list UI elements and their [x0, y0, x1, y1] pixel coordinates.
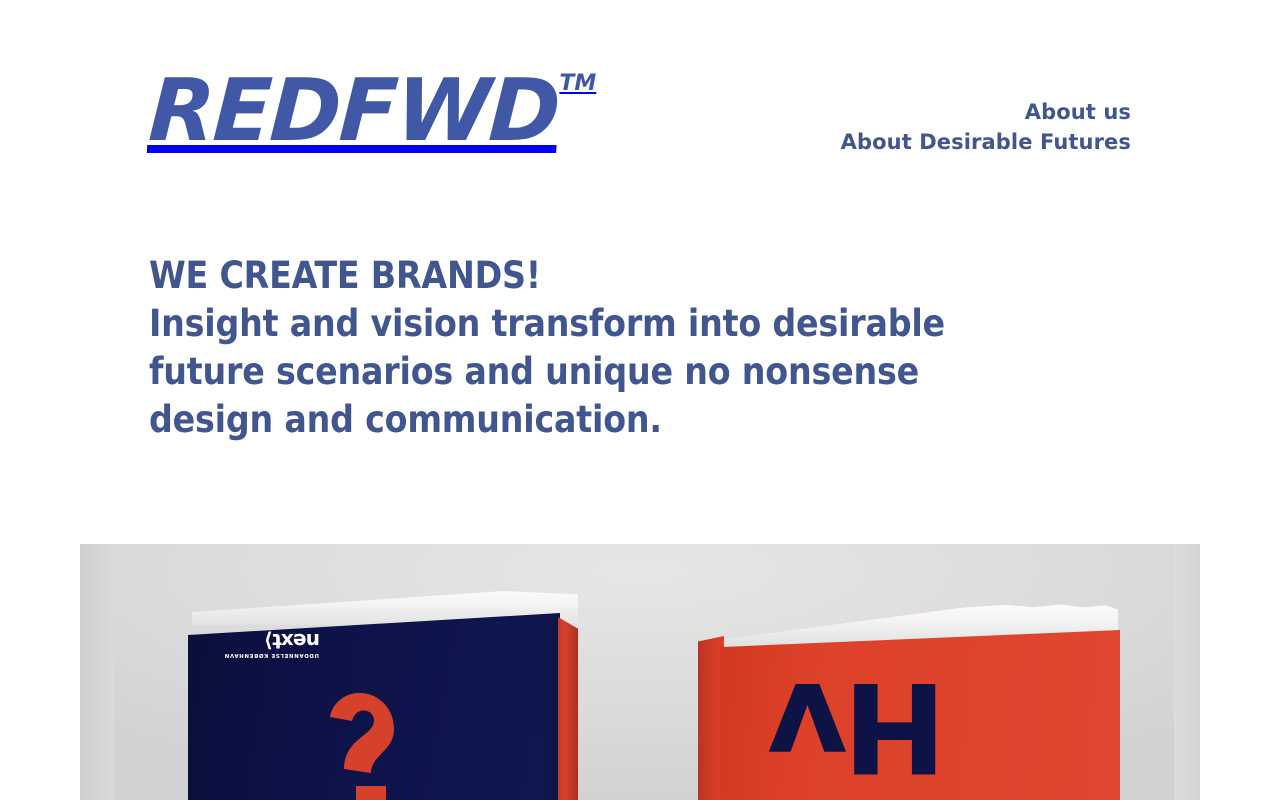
book-left-cover: UDDANNELSE KØBENHAVN next⟩ — [188, 613, 560, 800]
book-left-wordmark: next⟩ — [224, 631, 320, 651]
photo-edge-right — [1174, 544, 1200, 800]
page-root: REDFWD TM About us About Desirable Futur… — [0, 0, 1280, 800]
book-right-cover: Hv — [720, 630, 1120, 800]
nav-item-about-us[interactable]: About us — [1025, 97, 1131, 127]
book-left-logo-block: UDDANNELSE KØBENHAVN next⟩ — [224, 631, 320, 658]
logo-trademark-icon: TM — [559, 73, 596, 95]
book-mockup-left: UDDANNELSE KØBENHAVN next⟩ NEXT Uddannel… — [188, 591, 578, 800]
book-right-cover-title: Hv — [772, 664, 947, 788]
photo-edge-left — [80, 544, 114, 800]
nav-item-about-desirable-futures[interactable]: About Desirable Futures — [841, 127, 1131, 157]
hero-statement: Insight and vision transform into desira… — [149, 300, 1029, 444]
site-header: REDFWD TM About us About Desirable Futur… — [0, 0, 1280, 200]
site-logo[interactable]: REDFWD TM — [149, 63, 596, 159]
book-left-spine: NEXT Uddannelse København Ud — [558, 617, 578, 800]
main-navigation: About us About Desirable Futures — [841, 97, 1131, 157]
hero-section: WE CREATE BRANDS! Insight and vision tra… — [149, 252, 1049, 444]
hero-eyebrow: WE CREATE BRANDS! — [149, 252, 1049, 300]
hero-image[interactable]: UDDANNELSE KØBENHAVN next⟩ NEXT Uddannel… — [80, 544, 1200, 800]
book-mockup-right: NEXT Uddannels Hv — [694, 604, 1154, 800]
logo-wordmark: REDFWD — [146, 63, 560, 159]
inverted-question-mark-icon — [328, 691, 400, 800]
